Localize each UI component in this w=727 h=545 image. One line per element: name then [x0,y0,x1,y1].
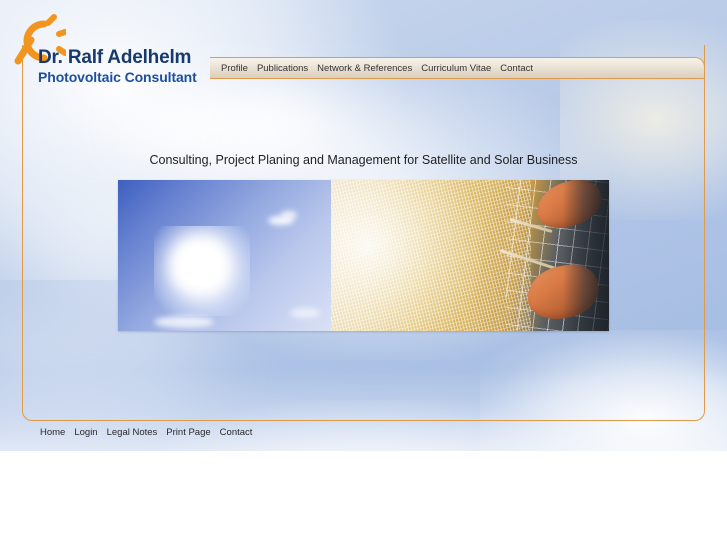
nav-item-contact[interactable]: Contact [500,63,533,74]
sun-core [174,242,224,288]
cloud-bank-right [480,330,727,451]
nav-item-network-references[interactable]: Network & References [317,63,412,74]
footer-item-login[interactable]: Login [74,427,97,438]
footer-item-contact[interactable]: Contact [220,427,253,438]
page-headline: Consulting, Project Planing and Manageme… [0,153,727,167]
hero-cloudlet [281,211,297,219]
main-navigation[interactable]: Profile Publications Network & Reference… [210,57,705,79]
footer-item-legal-notes[interactable]: Legal Notes [107,427,158,438]
hero-cloudlet [290,308,320,318]
nav-item-profile[interactable]: Profile [221,63,248,74]
footer-navigation[interactable]: Home Login Legal Notes Print Page Contac… [40,427,261,438]
site-logo[interactable]: Dr. Ralf Adelhelm Photovoltaic Consultan… [8,14,218,78]
nav-item-curriculum-vitae[interactable]: Curriculum Vitae [421,63,491,74]
brand-name: Dr. Ralf Adelhelm [38,47,191,69]
footer-item-print-page[interactable]: Print Page [166,427,210,438]
module-shadow-edge [563,180,609,331]
hero-cloudlet [154,316,214,328]
footer-item-home[interactable]: Home [40,427,65,438]
hero-banner-image [118,180,609,331]
sky-bottom-fade [0,370,727,451]
nav-item-publications[interactable]: Publications [257,63,308,74]
brand-tagline: Photovoltaic Consultant [38,69,197,85]
module-glare [331,180,481,331]
hero-solar-module-panel [331,180,609,331]
cloud-bank-bottom [160,400,580,451]
hero-sky-panel [118,180,331,331]
